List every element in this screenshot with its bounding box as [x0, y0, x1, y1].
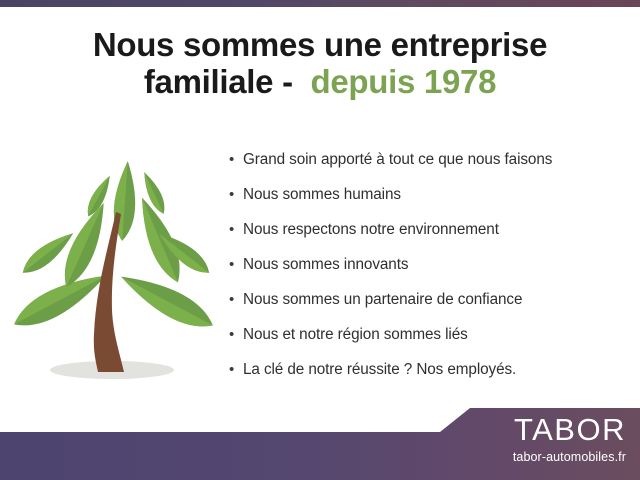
list-item: • La clé de notre réussite ? Nos employé… [229, 359, 629, 394]
list-item-label: Grand soin apporté à tout ce que nous fa… [243, 149, 552, 171]
heading-accent-since: depuis 1978 [311, 63, 497, 100]
list-item-label: Nous sommes un partenaire de confiance [243, 289, 522, 311]
value-list: • Grand soin apporté à tout ce que nous … [229, 149, 629, 394]
bullet-marker: • [229, 219, 243, 241]
list-item-label: Nous sommes innovants [243, 254, 408, 276]
brand-wordmark: TABOR [366, 414, 626, 446]
list-item-label: La clé de notre réussite ? Nos employés. [243, 359, 516, 381]
top-accent-bar [0, 0, 640, 7]
brand-logo: TABOR tabor-automobiles.fr [366, 414, 626, 464]
bullet-marker: • [229, 289, 243, 311]
bullet-marker: • [229, 149, 243, 171]
tree-illustration [12, 148, 217, 393]
bullet-marker: • [229, 184, 243, 206]
list-item: • Grand soin apporté à tout ce que nous … [229, 149, 629, 184]
heading-line-1: Nous sommes une entreprise [0, 26, 640, 63]
list-item: • Nous sommes innovants [229, 254, 629, 289]
bullet-marker: • [229, 359, 243, 381]
heading-line-2-plain: familiale - [144, 63, 311, 100]
list-item-label: Nous sommes humains [243, 184, 401, 206]
bullet-marker: • [229, 254, 243, 276]
promo-slide: Nous sommes une entreprise familiale - d… [0, 0, 640, 480]
tree-icon [12, 148, 217, 393]
list-item: • Nous et notre région sommes liés [229, 324, 629, 359]
page-title: Nous sommes une entreprise familiale - d… [0, 26, 640, 101]
list-item: • Nous respectons notre environnement [229, 219, 629, 254]
list-item-label: Nous et notre région sommes liés [243, 324, 468, 346]
list-item-label: Nous respectons notre environnement [243, 219, 499, 241]
bullet-marker: • [229, 324, 243, 346]
heading-line-2: familiale - depuis 1978 [0, 63, 640, 100]
list-item: • Nous sommes un partenaire de confiance [229, 289, 629, 324]
brand-tagline: tabor-automobiles.fr [366, 451, 626, 464]
leaf-bottom-right [115, 265, 217, 337]
list-item: • Nous sommes humains [229, 184, 629, 219]
